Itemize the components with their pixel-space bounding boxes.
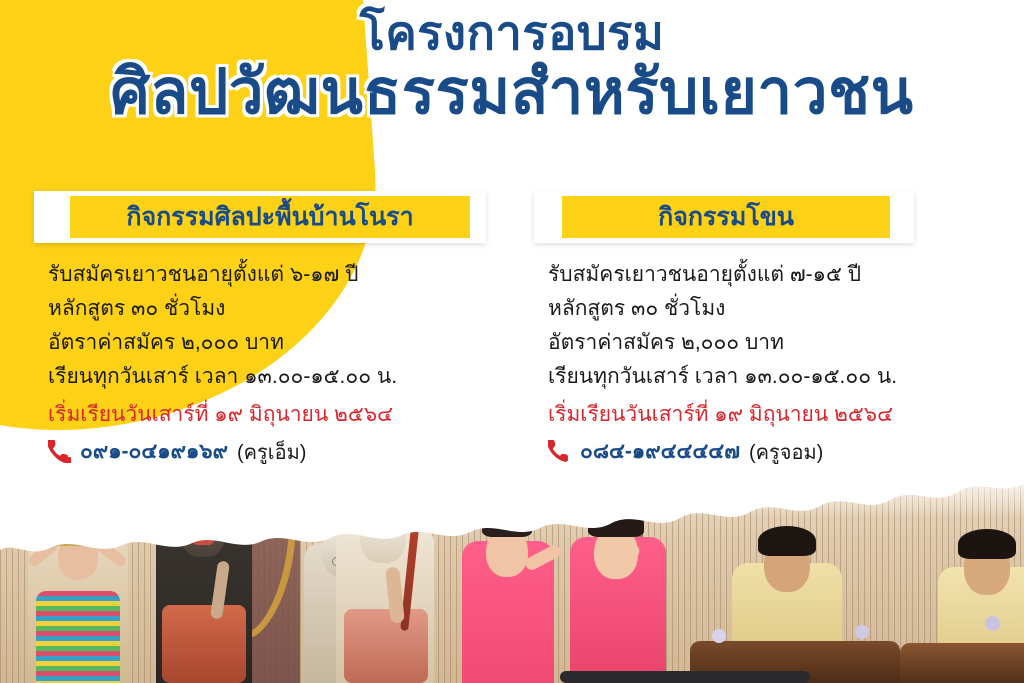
performer-khon-hanuman [330, 485, 440, 683]
poster-title-block: โครงการอบรม ศิลปวัฒนธรรมสำหรับเยาวชน [0, 8, 1024, 126]
mallet-head-3 [985, 616, 1000, 631]
phone-icon [48, 440, 71, 463]
title-line-2: ศิลปวัฒนธรรมสำหรับเยาวชน [0, 60, 1024, 126]
detail-start-date: เริ่มเรียนวันเสาร์ที่ ๑๙ มิถุนายน ๒๕๖๔ [548, 398, 1018, 432]
ranat-instrument-2 [900, 643, 1024, 683]
activity-details-khon: รับสมัครเยาวชนอายุตั้งแต่ ๗-๑๕ ปี หลักสู… [548, 258, 1018, 468]
contact-row-khon[interactable]: ๐๘๔-๑๙๔๔๔๔๗ (ครูจอม) [548, 435, 1018, 468]
activity-tag-khon: กิจกรรมโขน [562, 196, 890, 238]
performer-pink-girl-2 [560, 487, 672, 683]
performer-pink-girl-1 [452, 493, 560, 683]
activity-tag-khon-label: กิจกรรมโขน [658, 197, 794, 237]
detail-age-range: รับสมัครเยาวชนอายุตั้งแต่ ๗-๑๕ ปี [548, 258, 1018, 292]
performer-nora-girl [22, 488, 134, 683]
microphone-stand [560, 671, 810, 683]
detail-age-range: รับสมัครเยาวชนอายุตั้งแต่ ๖-๑๗ ปี [48, 258, 518, 292]
detail-course-hours: หลักสูตร ๓๐ ชั่วโมง [548, 292, 1018, 326]
detail-fee: อัตราค่าสมัคร ๒,๐๐๐ บาท [548, 326, 1018, 360]
activity-details-nora: รับสมัครเยาวชนอายุตั้งแต่ ๖-๑๗ ปี หลักสู… [48, 258, 518, 468]
contact-person-name: (ครูเอ็ม) [237, 436, 306, 468]
poster-canvas: โครงการอบรม ศิลปวัฒนธรรมสำหรับเยาวชน กิจ… [0, 0, 1024, 683]
performer-khon-dark-mask [148, 483, 258, 683]
contact-phone-number[interactable]: ๐๙๑-๐๔๑๙๑๖๙ [80, 435, 228, 468]
mallet-head-2 [855, 625, 869, 639]
activity-card-headers: กิจกรรมศิลปะพื้นบ้านโนรา กิจกรรมโขน [0, 191, 1024, 243]
contact-person-name: (ครูจอม) [749, 436, 823, 468]
detail-course-hours: หลักสูตร ๓๐ ชั่วโมง [48, 292, 518, 326]
detail-fee: อัตราค่าสมัคร ๒,๐๐๐ บาท [48, 326, 518, 360]
contact-phone-number[interactable]: ๐๘๔-๑๙๔๔๔๔๗ [580, 435, 740, 468]
detail-schedule: เรียนทุกวันเสาร์ เวลา ๑๓.๐๐-๑๕.๐๐ น. [48, 360, 518, 394]
phone-icon [548, 440, 571, 463]
detail-schedule: เรียนทุกวันเสาร์ เวลา ๑๓.๐๐-๑๕.๐๐ น. [548, 360, 1018, 394]
contact-row-nora[interactable]: ๐๙๑-๐๔๑๙๑๖๙ (ครูเอ็ม) [48, 435, 518, 468]
title-line-1: โครงการอบรม [0, 8, 1024, 58]
performance-photo [0, 466, 1024, 683]
activity-tag-nora: กิจกรรมศิลปะพื้นบ้านโนรา [70, 196, 470, 238]
mallet-head-1 [712, 629, 726, 643]
detail-start-date: เริ่มเรียนวันเสาร์ที่ ๑๙ มิถุนายน ๒๕๖๔ [48, 398, 518, 432]
activity-tag-nora-label: กิจกรรมศิลปะพื้นบ้านโนรา [126, 197, 413, 237]
